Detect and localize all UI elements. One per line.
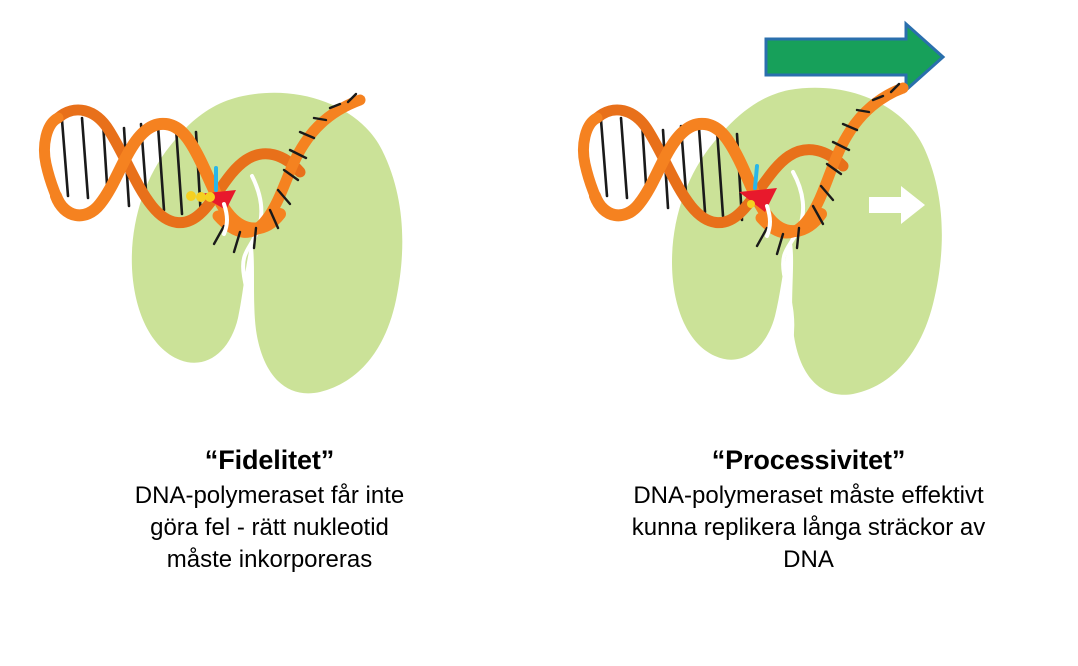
caption-line: måste inkorporeras (55, 544, 485, 576)
nucleotide-sugar-dot-2 (196, 192, 206, 202)
nucleotide-sugar-dot-1 (186, 191, 196, 201)
caption-body-processivity: DNA-polymeraset måste effektivt kunna re… (579, 480, 1039, 576)
nucleotide-phosphate-tail (755, 166, 757, 188)
caption-line: DNA-polymeraset måste effektivt (579, 480, 1039, 512)
enzyme-blob (672, 88, 942, 395)
panel-processivity: “Processivitet” DNA-polymeraset måste ef… (539, 0, 1078, 666)
panel-fidelity: “Fidelitet” DNA-polymeraset får inte gör… (0, 0, 539, 666)
caption-title-processivity: “Processivitet” (539, 443, 1078, 478)
movement-direction-arrow (766, 24, 943, 90)
dna-polymerase-processivity-diagram (539, 0, 1078, 430)
enzyme-blob (132, 93, 402, 394)
caption-line: göra fel - rätt nukleotid (55, 512, 485, 544)
caption-line: DNA (579, 544, 1039, 576)
caption-line: kunna replikera långa sträckor av (579, 512, 1039, 544)
caption-body-fidelity: DNA-polymeraset får inte göra fel - rätt… (55, 480, 485, 576)
caption-title-fidelity: “Fidelitet” (0, 443, 539, 478)
nucleotide-sugar-dot-1 (747, 200, 755, 208)
dna-polymerase-fidelity-diagram (0, 0, 539, 430)
slide-canvas: “Fidelitet” DNA-polymeraset får inte gör… (0, 0, 1078, 666)
caption-processivity: “Processivitet” DNA-polymeraset måste ef… (539, 443, 1078, 576)
nucleotide-sugar-dot-3 (205, 192, 215, 202)
caption-line: DNA-polymeraset får inte (55, 480, 485, 512)
caption-fidelity: “Fidelitet” DNA-polymeraset får inte gör… (0, 443, 539, 576)
